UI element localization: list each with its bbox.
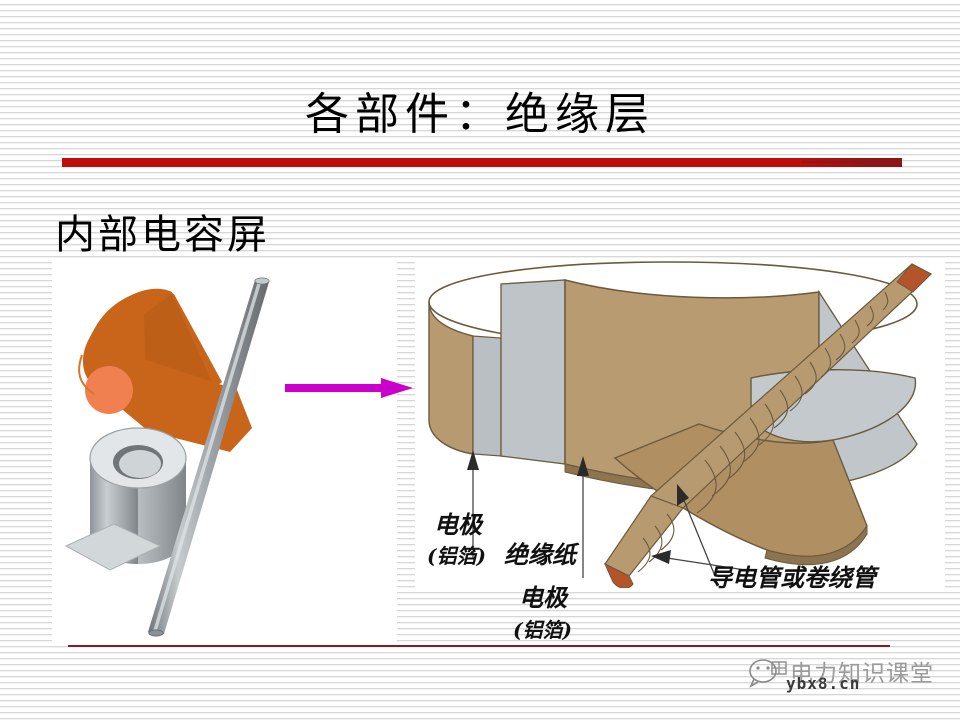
label-foil-bottom: (铝箔) (513, 614, 572, 643)
wechat-icon (748, 656, 788, 690)
watermark: 电力知识课堂 ybx8.cn (748, 652, 953, 710)
label-foil-top: (铝箔) (427, 540, 486, 569)
tube-tip-icon (605, 496, 683, 588)
process-arrow (285, 375, 415, 401)
capacitor-screen-panel (415, 258, 945, 588)
label-electrode-top: 电极 (434, 505, 482, 540)
internal-capacitor-screen-diagram (415, 258, 945, 588)
watermark-url: ybx8.cn (786, 674, 860, 693)
insulating-paper-roll-icon (79, 289, 252, 452)
page-title: 各部件：绝缘层 (0, 78, 960, 142)
slide-background: 各部件：绝缘层 内部电容屏 (0, 0, 960, 720)
label-insulating-paper: 绝缘纸 (504, 535, 576, 570)
aluminium-foil-roll-icon (66, 428, 186, 570)
section-subtitle: 内部电容屏 (55, 202, 270, 260)
footer-divider (68, 645, 890, 647)
label-electrode-bottom: 电极 (519, 578, 567, 613)
title-divider (62, 158, 902, 167)
components-panel (52, 262, 397, 644)
components-illustration (52, 262, 397, 644)
label-winding-tube: 导电管或卷绕管 (708, 558, 876, 593)
